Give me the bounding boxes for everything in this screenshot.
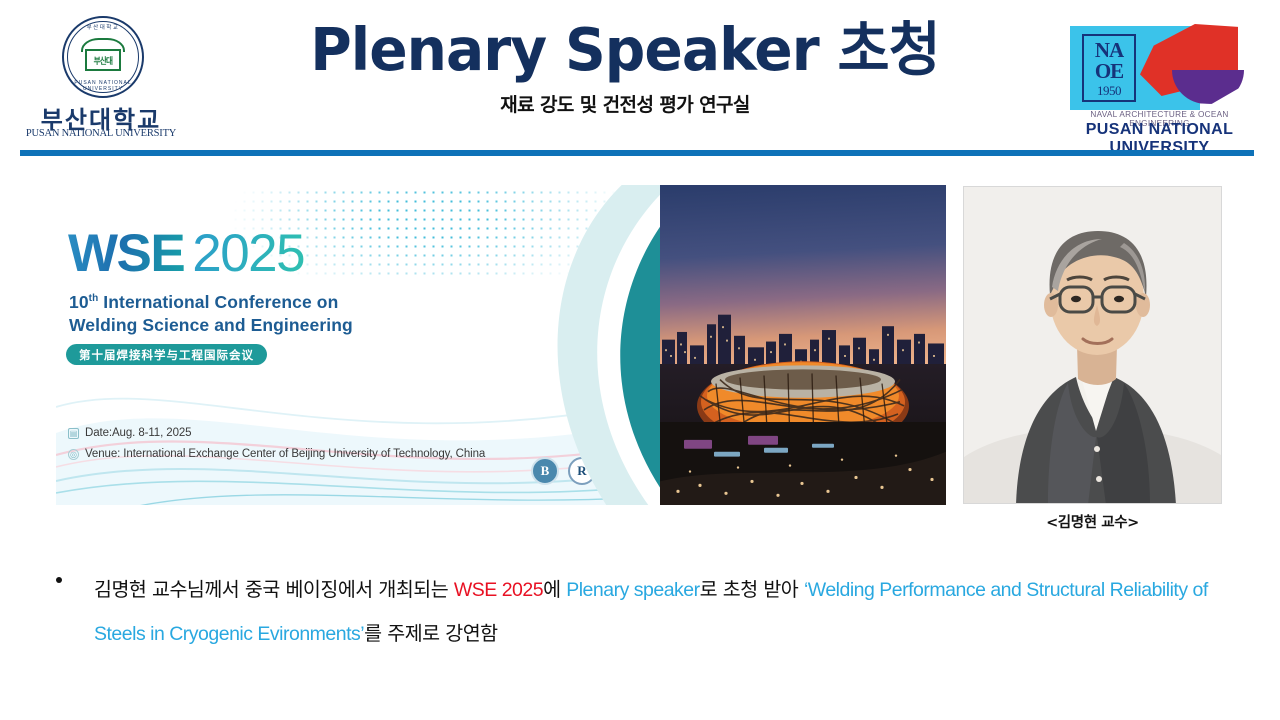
poster-acronym: WSE [68,224,184,283]
poster-venue-row: ◎ Venue: International Exchange Center o… [68,448,485,460]
crest-arc-top-text: 부산대학교 [62,23,144,31]
naoe-line-1: NA [1095,40,1123,61]
body-segment-3: 에 [543,578,566,601]
professor-portrait-card: <김명현 교수> [963,186,1222,504]
body-segment-role: Plenary speaker [566,579,699,601]
location-pin-icon: ◎ [68,449,79,460]
page-title: Plenary Speaker 초청 [246,18,1004,83]
title-block: Plenary Speaker 초청 재료 강도 및 건전성 평가 연구실 [230,18,1020,117]
poster-conference-line-1: 10th International Conference on [69,292,338,313]
poster-acronym-title: WSE2025 [68,227,304,280]
body-segment-conference: WSE 2025 [454,579,543,601]
naoe-line-2: OE [1095,61,1123,82]
professor-caption: <김명현 교수> [963,511,1222,532]
body-paragraph: 김명현 교수님께서 중국 베이징에서 개최되는 WSE 2025에 Plenar… [94,568,1226,656]
professor-photo [963,186,1222,504]
slide-header: 부산대학교 PUSAN NATIONAL UNIVERSITY 부산대 부산대학… [0,0,1280,165]
professor-portrait-illustration [964,187,1222,504]
pusan-national-university-logo: 부산대학교 PUSAN NATIONAL UNIVERSITY 부산대 부산대학… [22,16,180,141]
page-subtitle: 재료 강도 및 건전성 평가 연구실 [230,90,1020,117]
poster-venue-text: Venue: International Exchange Center of … [85,448,485,460]
body-segment-7: 를 주제로 강연함 [364,622,497,645]
body-segment-1: 김명현 교수님께서 중국 베이징에서 개최되는 [94,578,454,601]
naoe-letter-frame: NA OE 1950 [1082,34,1136,102]
wse-conference-poster: WSE2025 10th International Conference on… [56,185,946,505]
body-segment-5: 로 초청 받아 [700,578,804,601]
crest-book-icon: 부산대 [81,38,125,76]
beijing-stadium-photo [660,185,946,505]
poster-date-row: ▤ Date:Aug. 8-11, 2025 [68,427,191,439]
poster-conference-rest: International Conference on [98,292,338,312]
book-panel-shape: 부산대 [85,49,121,71]
poster-date-text: Date:Aug. 8-11, 2025 [85,427,191,439]
calendar-icon: ▤ [68,428,79,439]
crest-arc-bottom-text: PUSAN NATIONAL UNIVERSITY [62,80,144,92]
naoe-year: 1950 [1097,84,1121,97]
poster-conference-line-2: Welding Science and Engineering [69,315,353,336]
naoe-department-logo: NA OE 1950 NAVAL ARCHITECTURE & OCEAN EN… [1062,18,1257,144]
pnu-name-english: PUSAN NATIONAL UNIVERSITY [22,128,180,139]
pnu-crest-icon: 부산대학교 PUSAN NATIONAL UNIVERSITY 부산대 [62,16,144,98]
photo-road-and-traffic [660,422,946,505]
poster-edition-number: 10 [69,292,89,312]
poster-edition-suffix: th [89,293,99,304]
header-divider [20,150,1254,156]
poster-chinese-badge: 第十届焊接科学与工程国际会议 [66,344,267,365]
poster-year: 2025 [192,224,304,283]
bullet-marker [56,577,62,583]
body-text-block: 김명현 교수님께서 중국 베이징에서 개최되는 WSE 2025에 Plenar… [56,568,1226,656]
crest-mark-text: 부산대 [94,54,113,67]
